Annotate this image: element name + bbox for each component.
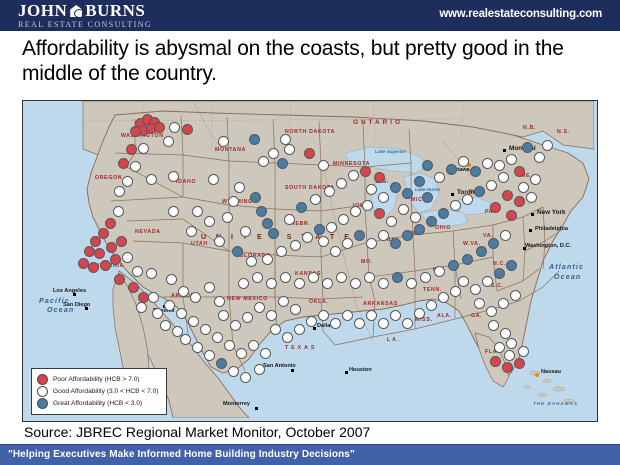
marker-good	[336, 178, 347, 189]
marker-poor	[128, 282, 139, 293]
marker-good	[488, 320, 499, 331]
city-dot-monterrey	[255, 407, 258, 410]
marker-good	[302, 232, 313, 243]
marker-good	[204, 350, 215, 361]
marker-poor	[514, 358, 525, 369]
marker-poor	[502, 190, 513, 201]
marker-good	[278, 296, 289, 307]
marker-good	[324, 186, 335, 197]
legend-item-poor: Poor Affordability (HCB > 7.0)	[37, 374, 158, 385]
marker-poor	[114, 274, 125, 285]
marker-good	[308, 272, 319, 283]
marker-good	[138, 143, 149, 154]
city-dot-houston	[345, 371, 348, 374]
marker-great	[216, 358, 227, 369]
marker-great	[422, 160, 433, 171]
logo-wordmark: JOHNBURNS	[18, 2, 152, 19]
city-dot-san-diego	[85, 307, 88, 310]
marker-good	[164, 300, 175, 311]
marker-good	[168, 206, 179, 217]
marker-good	[270, 324, 281, 335]
marker-good	[322, 278, 333, 289]
marker-good	[146, 268, 157, 279]
marker-good	[306, 316, 317, 327]
marker-poor	[182, 124, 193, 135]
marker-great	[296, 202, 307, 213]
marker-good	[282, 332, 293, 343]
marker-great	[354, 230, 365, 241]
marker-good	[224, 340, 235, 351]
map-legend: Poor Affordability (HCB > 7.0) Good Affo…	[31, 368, 167, 415]
marker-good	[350, 278, 361, 289]
legend-swatch-poor	[37, 374, 48, 385]
marker-good	[166, 274, 177, 285]
marker-good	[176, 308, 187, 319]
marker-good	[450, 286, 461, 297]
marker-great	[250, 192, 261, 203]
marker-poor	[514, 196, 525, 207]
marker-good	[434, 266, 445, 277]
marker-great	[256, 206, 267, 217]
marker-good	[132, 266, 143, 277]
marker-good	[214, 236, 225, 247]
marker-great	[314, 224, 325, 235]
marker-good	[530, 174, 541, 185]
marker-good	[178, 286, 189, 297]
marker-good	[504, 350, 515, 361]
marker-good	[218, 310, 229, 321]
marker-good	[326, 222, 337, 233]
house-icon	[68, 4, 84, 18]
marker-great	[402, 188, 413, 199]
marker-great	[494, 268, 505, 279]
marker-good	[168, 171, 179, 182]
marker-good	[500, 328, 511, 339]
marker-poor	[138, 292, 149, 303]
marker-poor	[94, 248, 105, 259]
marker-great	[462, 254, 473, 265]
marker-good	[498, 172, 509, 183]
marker-good	[426, 300, 437, 311]
marker-poor	[90, 236, 101, 247]
marker-poor	[514, 166, 525, 177]
marker-good	[222, 212, 233, 223]
city-dot-montreal	[503, 149, 506, 152]
marker-good	[366, 238, 377, 249]
marker-good	[266, 278, 277, 289]
city-dot-washington-dc	[523, 247, 526, 250]
marker-good	[280, 134, 291, 145]
marker-good	[482, 158, 493, 169]
marker-good	[458, 276, 469, 287]
marker-good	[200, 324, 211, 335]
marker-good	[242, 312, 253, 323]
marker-good	[420, 272, 431, 283]
marker-good	[212, 332, 223, 343]
marker-good	[318, 310, 329, 321]
marker-good	[230, 320, 241, 331]
marker-good	[470, 284, 481, 295]
marker-good	[330, 318, 341, 329]
marker-good	[248, 340, 259, 351]
marker-great	[422, 192, 433, 203]
marker-good	[542, 140, 553, 151]
marker-great	[402, 230, 413, 241]
marker-great	[390, 182, 401, 193]
marker-great	[277, 158, 288, 169]
marker-great	[446, 164, 457, 175]
marker-good	[254, 302, 265, 313]
marker-good	[410, 212, 421, 223]
legend-item-good: Good Affordability (3.0 < HCB < 7.0)	[37, 386, 158, 397]
marker-poor	[126, 144, 137, 155]
marker-poor	[304, 148, 315, 159]
marker-good	[262, 254, 273, 265]
marker-good	[294, 324, 305, 335]
marker-good	[258, 156, 269, 167]
marker-good	[364, 272, 375, 283]
marker-good	[310, 194, 321, 205]
marker-good	[506, 338, 517, 349]
marker-poor	[502, 362, 513, 373]
city-dot-nassau	[535, 373, 539, 377]
marker-good	[500, 230, 511, 241]
marker-great	[426, 216, 437, 227]
marker-good	[192, 206, 203, 217]
source-note: Source: JBREC Regional Market Monitor, O…	[24, 424, 370, 440]
marker-good	[506, 154, 517, 165]
marker-great	[232, 246, 243, 257]
marker-good	[494, 342, 505, 353]
marker-good	[318, 160, 329, 171]
city-dot-toronto	[451, 193, 454, 196]
city-dot-new-york	[531, 213, 534, 216]
legend-swatch-good	[37, 386, 48, 397]
marker-good	[510, 290, 521, 301]
marker-good	[290, 304, 301, 315]
marker-good	[122, 252, 133, 263]
legend-item-great: Great Affordability (HCB < 3.0)	[37, 398, 158, 409]
marker-good	[402, 318, 413, 329]
marker-good	[386, 216, 397, 227]
marker-good	[336, 272, 347, 283]
marker-good	[238, 278, 249, 289]
marker-good	[284, 144, 295, 155]
marker-great	[414, 176, 425, 187]
marker-good	[498, 298, 509, 309]
marker-poor	[118, 158, 129, 169]
marker-great	[390, 238, 401, 249]
marker-good	[254, 364, 265, 375]
marker-good	[378, 192, 389, 203]
marker-poor	[106, 242, 117, 253]
marker-poor	[116, 236, 127, 247]
marker-great	[262, 218, 273, 229]
marker-poor	[100, 260, 111, 271]
marker-good	[186, 226, 197, 237]
marker-good	[228, 366, 239, 377]
marker-good	[252, 272, 263, 283]
marker-good	[122, 176, 133, 187]
marker-good	[214, 296, 225, 307]
marker-good	[342, 238, 353, 249]
marker-good	[378, 318, 389, 329]
marker-great	[470, 166, 481, 177]
marker-good	[390, 310, 401, 321]
marker-good	[482, 276, 493, 287]
marker-good	[406, 278, 417, 289]
logo-text-john: JOHN	[18, 1, 67, 20]
marker-good	[474, 298, 485, 309]
marker-good	[378, 230, 389, 241]
marker-poor	[374, 208, 385, 219]
marker-good	[486, 180, 497, 191]
marker-good	[366, 310, 377, 321]
marker-good	[163, 136, 174, 147]
marker-good	[146, 174, 157, 185]
marker-good	[260, 348, 271, 359]
marker-good	[526, 192, 537, 203]
marker-great	[476, 246, 487, 257]
marker-good	[236, 348, 247, 359]
marker-good	[204, 216, 215, 227]
website-url[interactable]: www.realestateconsulting.com	[439, 8, 602, 20]
marker-good	[136, 302, 147, 313]
marker-good	[228, 196, 239, 207]
marker-great	[488, 238, 499, 249]
city-dot-philadelphia	[529, 229, 532, 232]
marker-good	[348, 170, 359, 181]
company-logo: JOHNBURNS REAL ESTATE CONSULTING	[18, 2, 152, 29]
marker-good	[169, 122, 180, 133]
marker-good	[354, 318, 365, 329]
legend-label-great: Great Affordability (HCB < 3.0)	[53, 400, 142, 407]
marker-good	[172, 326, 183, 337]
marker-good	[438, 292, 449, 303]
marker-good	[294, 278, 305, 289]
marker-good	[268, 148, 279, 159]
marker-good	[266, 310, 277, 321]
marker-poor	[130, 126, 141, 137]
marker-good	[398, 204, 409, 215]
marker-good	[338, 214, 349, 225]
marker-great	[438, 208, 449, 219]
marker-poor	[490, 202, 501, 213]
marker-good	[366, 184, 377, 195]
marker-good	[330, 246, 341, 257]
marker-good	[280, 272, 291, 283]
marker-great	[448, 260, 459, 271]
marker-good	[160, 320, 171, 331]
marker-poor	[105, 218, 116, 229]
marker-good	[362, 200, 373, 211]
marker-good	[434, 172, 445, 183]
marker-poor	[506, 210, 517, 221]
marker-good	[290, 240, 301, 251]
marker-good	[114, 186, 125, 197]
marker-good	[152, 308, 163, 319]
marker-good	[518, 182, 529, 193]
marker-poor	[490, 356, 501, 367]
marker-good	[518, 346, 529, 357]
marker-good	[240, 226, 251, 237]
brand-header: JOHNBURNS REAL ESTATE CONSULTING www.rea…	[0, 0, 620, 31]
marker-good	[113, 206, 124, 217]
marker-good	[450, 200, 461, 211]
marker-good	[246, 256, 257, 267]
marker-good	[494, 160, 505, 171]
marker-good	[240, 372, 251, 383]
marker-poor	[84, 246, 95, 257]
marker-good	[458, 156, 469, 167]
marker-poor	[374, 172, 385, 183]
logo-tagline: REAL ESTATE CONSULTING	[18, 20, 152, 29]
legend-swatch-great	[37, 398, 48, 409]
marker-good	[378, 278, 389, 289]
marker-great	[506, 260, 517, 271]
marker-good	[130, 161, 141, 172]
legend-label-poor: Poor Affordability (HCB > 7.0)	[53, 376, 140, 383]
marker-great	[522, 142, 533, 153]
footer-tagline-text: "Helping Executives Make Informed Home B…	[8, 449, 355, 460]
marker-great	[392, 272, 403, 283]
marker-great	[414, 224, 425, 235]
city-dot-san-antonio	[291, 369, 294, 372]
marker-good	[318, 236, 329, 247]
marker-good	[218, 136, 229, 147]
marker-poor	[88, 262, 99, 273]
marker-poor	[110, 254, 121, 265]
marker-good	[284, 214, 295, 225]
legend-label-good: Good Affordability (3.0 < HCB < 7.0)	[53, 388, 158, 395]
marker-good	[534, 152, 545, 163]
footer-tagline-bar: "Helping Executives Make Informed Home B…	[0, 444, 620, 465]
logo-text-burns: BURNS	[85, 1, 145, 20]
marker-good	[462, 194, 473, 205]
marker-poor	[154, 122, 165, 133]
marker-good	[192, 342, 203, 353]
slide-title: Affordability is abysmal on the coasts, …	[22, 36, 602, 86]
marker-good	[276, 246, 287, 257]
affordability-map: Pacific Ocean Atlantic Ocean U N I T E D…	[22, 100, 598, 422]
marker-good	[204, 282, 215, 293]
marker-good	[414, 308, 425, 319]
marker-good	[234, 182, 245, 193]
marker-good	[342, 310, 353, 321]
marker-good	[208, 174, 219, 185]
marker-good	[190, 292, 201, 303]
marker-good	[148, 292, 159, 303]
city-dot-dallas	[313, 327, 316, 330]
marker-good	[188, 316, 199, 327]
marker-good	[350, 206, 361, 217]
marker-poor	[360, 166, 371, 177]
marker-poor	[78, 258, 89, 269]
marker-great	[474, 186, 485, 197]
marker-great	[268, 228, 279, 239]
marker-good	[486, 306, 497, 317]
marker-great	[249, 134, 260, 145]
city-dot-los-angeles	[73, 293, 76, 296]
